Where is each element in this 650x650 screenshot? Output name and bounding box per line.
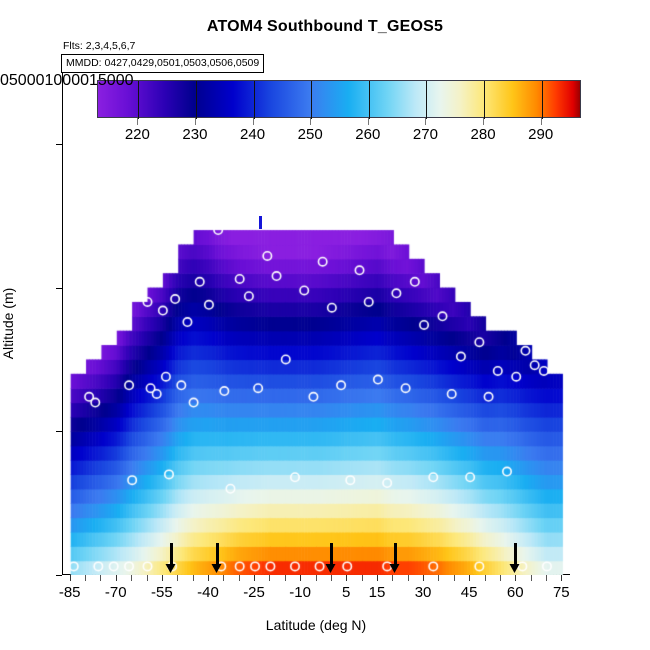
x-axis: -85-70-55-40-25-1051530456075 <box>62 575 570 615</box>
x-axis-tick-label: 30 <box>415 584 432 601</box>
y-axis-tick-label: 15000 <box>89 72 134 89</box>
x-axis-tick <box>408 575 409 581</box>
x-axis-tick-label: -85 <box>59 584 81 601</box>
x-axis-tick <box>269 575 270 581</box>
profile-arrow-head <box>325 564 335 573</box>
blue-marker-tick <box>259 216 262 229</box>
x-axis-tick <box>515 575 516 581</box>
mmdd-annotation-box: MMDD: 0427,0429,0501,0503,0506,0509 <box>61 54 264 73</box>
x-axis-tick-label: -25 <box>243 584 265 601</box>
x-axis-tick <box>316 575 317 581</box>
x-axis-tick <box>561 575 562 581</box>
x-axis-tick <box>438 575 439 581</box>
profile-arrow <box>330 543 333 565</box>
x-axis-tick <box>423 575 424 581</box>
profile-arrow-head <box>510 564 520 573</box>
x-axis-tick-label: 45 <box>461 584 478 601</box>
x-axis-tick <box>346 575 347 581</box>
x-axis-tick-label: -10 <box>289 584 311 601</box>
profile-arrow-head <box>166 564 176 573</box>
x-axis-tick <box>131 575 132 581</box>
x-axis-tick <box>362 575 363 581</box>
x-axis-tick-label: 75 <box>553 584 570 601</box>
profile-arrow <box>216 543 219 565</box>
profile-arrow <box>514 543 517 565</box>
chart-title: ATOM4 Southbound T_GEOS5 <box>0 18 650 36</box>
x-axis-tick <box>147 575 148 581</box>
x-axis-tick-label: 5 <box>342 584 350 601</box>
x-axis-tick <box>85 575 86 581</box>
plot-area: 050001000015000 Altitude (m) -85-70-55-4… <box>62 72 570 575</box>
x-axis-tick <box>331 575 332 581</box>
profile-arrow-head <box>212 564 222 573</box>
x-axis-tick <box>208 575 209 581</box>
x-axis-tick <box>531 575 532 581</box>
x-axis-tick <box>239 575 240 581</box>
x-axis-tick <box>177 575 178 581</box>
x-axis-tick <box>100 575 101 581</box>
y-axis-tick-label: 10000 <box>45 72 90 89</box>
x-axis-tick <box>300 575 301 581</box>
x-axis-tick <box>500 575 501 581</box>
profile-arrow <box>394 543 397 565</box>
x-axis-tick <box>70 575 71 581</box>
x-axis-tick <box>377 575 378 581</box>
x-axis-tick-label: -55 <box>151 584 173 601</box>
y-axis-tick <box>56 144 62 145</box>
x-axis-tick-label: -40 <box>197 584 219 601</box>
x-axis-tick <box>485 575 486 581</box>
y-axis-title: Altitude (m) <box>0 72 22 575</box>
x-axis-tick <box>162 575 163 581</box>
profile-arrow-head <box>390 564 400 573</box>
mmdd-annotation-text: MMDD: 0427,0429,0501,0503,0506,0509 <box>66 57 259 69</box>
x-axis-tick-label: 60 <box>507 584 524 601</box>
profile-arrow <box>170 543 173 565</box>
y-axis-tick <box>56 288 62 289</box>
x-axis-tick <box>193 575 194 581</box>
x-axis-tick <box>254 575 255 581</box>
y-axis-tick <box>56 431 62 432</box>
x-axis-tick <box>223 575 224 581</box>
chart-root: ATOM4 Southbound T_GEOS5 Flts: 2,3,4,5,6… <box>0 0 650 650</box>
x-axis-tick <box>392 575 393 581</box>
x-axis-tick <box>285 575 286 581</box>
x-axis-tick <box>454 575 455 581</box>
x-axis-tick <box>546 575 547 581</box>
x-axis-title: Latitude (deg N) <box>62 617 570 633</box>
x-axis-tick <box>469 575 470 581</box>
x-axis-tick <box>116 575 117 581</box>
flights-annotation: Flts: 2,3,4,5,6,7 <box>63 40 135 52</box>
heatmap-canvas <box>63 72 570 575</box>
x-axis-tick-label: -70 <box>105 584 127 601</box>
x-axis-tick-label: 15 <box>369 584 386 601</box>
